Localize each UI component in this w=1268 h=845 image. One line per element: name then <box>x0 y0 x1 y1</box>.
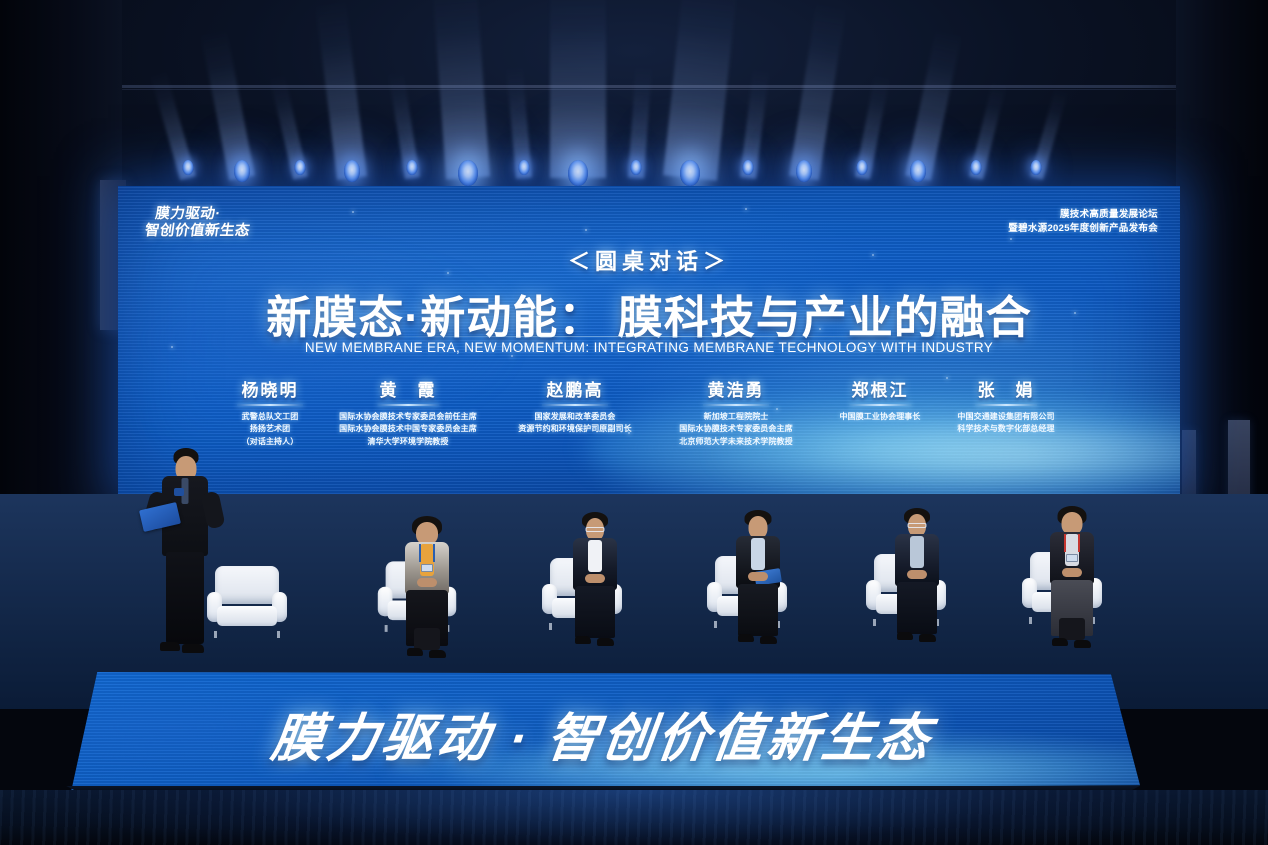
main-led-wall: 膜力驱动· 智创价值新生态 膜技术高质量发展论坛 暨碧水源2025年度创新产品发… <box>118 186 1180 494</box>
panelist-2-hands <box>585 574 605 583</box>
stage-light-fixture <box>183 160 194 175</box>
panelist-4-trousers <box>897 582 937 634</box>
stage-light-fixture <box>743 160 754 175</box>
speaker-name-underline <box>377 404 439 406</box>
speaker-card-5: 郑根江中国膜工业协会理事长 <box>840 376 921 423</box>
host-trousers <box>166 552 204 644</box>
panelist-4-shoe-right <box>919 634 936 642</box>
event-line-1: 膜技术高质量发展论坛 <box>1008 208 1158 222</box>
chair-leg <box>873 619 876 626</box>
light-beam <box>905 29 962 181</box>
speaker-name: 黄浩勇 <box>679 376 792 404</box>
subtitle-english: NEW MEMBRANE ERA, NEW MOMENTUM: INTEGRAT… <box>118 340 1180 355</box>
panelist-4 <box>888 508 946 658</box>
light-beam <box>663 0 737 181</box>
speaker-title-line: 扬扬艺术团 <box>237 423 303 435</box>
speaker-name-underline <box>703 404 769 406</box>
chair-cushion <box>217 606 277 626</box>
panelist-5-shoe-left <box>1052 638 1068 646</box>
speaker-name: 赵鹏高 <box>518 376 631 404</box>
speaker-title-line: 清华大学环境学院教授 <box>339 436 477 448</box>
speaker-name-underline <box>237 404 303 406</box>
panelist-3-shirt <box>751 538 765 570</box>
wall-sparkle <box>352 211 354 213</box>
stage-light-fixture <box>568 160 588 186</box>
panelist-2-glasses <box>586 527 605 532</box>
panelist-3 <box>729 510 787 660</box>
panelist-3-shoe-right <box>760 636 777 644</box>
stage-light-fixture <box>234 160 250 182</box>
host-microphone <box>174 488 184 496</box>
panelist-1-shoe-left <box>407 648 423 656</box>
speaker-title-line: 科学技术与数字化部总经理 <box>957 423 1054 435</box>
panelist-2-shoe-right <box>597 638 614 646</box>
host-moderator <box>150 448 220 663</box>
chair-leg <box>549 623 552 630</box>
speaker-title-line: 武警总队文工团 <box>237 411 303 423</box>
panelist-2 <box>566 512 624 662</box>
stage-light-fixture <box>407 160 418 175</box>
panelist-1-shoe-right <box>429 650 446 658</box>
stage-front-led-banner: 膜力驱动 · 智创价值新生态 <box>65 672 1140 790</box>
stage-light-fixture <box>519 160 530 175</box>
host-shoe-right <box>182 644 204 653</box>
panelist-1-badge <box>421 564 433 572</box>
speaker-title-line: 国际水协膜技术专家委员会主席 <box>679 423 792 435</box>
speaker-name-underline <box>542 404 608 406</box>
panelist-5-hands <box>1062 568 1082 577</box>
speaker-name: 张 娟 <box>957 376 1054 404</box>
speaker-card-2: 黄 霞国际水协会膜技术专家委员会前任主席国际水协会膜技术中国专家委员会主席清华大… <box>339 376 477 448</box>
title-divider <box>329 336 969 337</box>
panelist-4-shirt <box>910 536 924 568</box>
light-beam <box>789 2 846 181</box>
wall-sparkle <box>745 208 747 210</box>
panelist-4-shoe-left <box>897 632 913 640</box>
speaker-title-line: 资源节约和环境保护司原副司长 <box>518 423 631 435</box>
speaker-title-line: 新加坡工程院院士 <box>679 411 792 423</box>
speaker-name: 黄 霞 <box>339 376 477 404</box>
stage-light-fixture <box>458 160 478 186</box>
session-tag: ＜圆桌对话＞ <box>118 244 1180 276</box>
ceiling-truss <box>0 85 1268 88</box>
speaker-title-line: 国家发展和改革委员会 <box>518 411 631 423</box>
wall-logo-line2: 智创价值新生态 <box>144 223 251 240</box>
speaker-card-1: 杨晓明武警总队文工团扬扬艺术团（对话主持人） <box>237 376 303 448</box>
panelist-5 <box>1043 506 1101 656</box>
speaker-title-line: 中国交通建设集团有限公司 <box>957 411 1054 423</box>
wall-sparkle <box>1010 238 1012 240</box>
foreground-floor <box>0 790 1268 845</box>
speaker-titles: 中国膜工业协会理事长 <box>840 411 921 423</box>
banner-slogan: 膜力驱动 · 智创价值新生态 <box>65 696 1140 771</box>
stage-light-fixture <box>295 160 306 175</box>
panelist-5-legs <box>1059 618 1085 640</box>
wall-sparkle <box>511 355 513 357</box>
speaker-titles: 武警总队文工团扬扬艺术团（对话主持人） <box>237 411 303 448</box>
host-shoe-left <box>160 642 180 651</box>
panelist-2-shoe-left <box>575 636 591 644</box>
speaker-name: 杨晓明 <box>237 376 303 404</box>
panelist-2-trousers <box>575 586 615 638</box>
panelist-3-trousers <box>738 584 778 636</box>
speaker-name-underline <box>975 404 1037 406</box>
wall-sparkle <box>585 229 587 231</box>
stage-light-fixture <box>857 160 868 175</box>
wall-logo-line1: 膜力驱动· <box>146 206 253 223</box>
panelist-4-glasses <box>908 523 927 528</box>
panelist-5-badge <box>1066 554 1078 562</box>
panelist-1-legs <box>414 628 440 650</box>
speaker-name: 郑根江 <box>840 376 921 404</box>
panelist-5-shoe-right <box>1074 640 1091 648</box>
speaker-titles: 新加坡工程院院士国际水协膜技术专家委员会主席北京师范大学未来技术学院教授 <box>679 411 792 448</box>
speaker-title-line: 国际水协会膜技术专家委员会前任主席 <box>339 411 477 423</box>
chair-leg <box>277 631 280 638</box>
stage-light-fixture <box>971 160 982 175</box>
stage-light-fixture <box>1031 160 1042 175</box>
panelist-1-hands <box>417 578 437 587</box>
speaker-titles: 国际水协会膜技术专家委员会前任主席国际水协会膜技术中国专家委员会主席清华大学环境… <box>339 411 477 448</box>
panelist-1-lanyard <box>419 544 435 562</box>
chair-leg <box>385 625 388 632</box>
panelist-1 <box>398 516 456 666</box>
wall-event-title: 膜技术高质量发展论坛 暨碧水源2025年度创新产品发布会 <box>1008 208 1158 237</box>
panelist-2-shirt <box>588 540 602 572</box>
speaker-list: 杨晓明武警总队文工团扬扬艺术团（对话主持人）黄 霞国际水协会膜技术专家委员会前任… <box>118 376 1180 481</box>
chair-leg <box>714 621 717 628</box>
speaker-title-line: 北京师范大学未来技术学院教授 <box>679 436 792 448</box>
stage-light-fixture <box>344 160 360 182</box>
speaker-title-line: 中国膜工业协会理事长 <box>840 411 921 423</box>
speaker-title-line: 国际水协会膜技术中国专家委员会主席 <box>339 423 477 435</box>
speaker-name-underline <box>849 404 911 406</box>
event-line-2: 暨碧水源2025年度创新产品发布会 <box>1008 222 1158 236</box>
panelist-4-hands <box>907 570 927 579</box>
speaker-titles: 国家发展和改革委员会资源节约和环境保护司原副司长 <box>518 411 631 436</box>
panelist-5-lanyard <box>1064 534 1080 552</box>
stage-light-fixture <box>631 160 642 175</box>
panelist-3-hands <box>748 572 768 581</box>
speaker-card-4: 黄浩勇新加坡工程院院士国际水协膜技术专家委员会主席北京师范大学未来技术学院教授 <box>679 376 792 448</box>
ceiling-truss-secondary <box>0 89 1268 90</box>
stage-light-fixture <box>680 160 700 186</box>
panelist-3-shoe-left <box>738 634 754 642</box>
chair-leg <box>1029 617 1032 624</box>
light-beam <box>201 28 255 180</box>
wall-corner-logo: 膜力驱动· 智创价值新生态 <box>144 206 254 240</box>
stage-light-fixture <box>796 160 812 182</box>
stage-light-fixture <box>910 160 926 182</box>
speaker-titles: 中国交通建设集团有限公司科学技术与数字化部总经理 <box>957 411 1054 436</box>
speaker-card-6: 张 娟中国交通建设集团有限公司科学技术与数字化部总经理 <box>957 376 1054 436</box>
speaker-title-line: （对话主持人） <box>237 436 303 448</box>
conference-stage-photo: 膜力驱动· 智创价值新生态 膜技术高质量发展论坛 暨碧水源2025年度创新产品发… <box>0 0 1268 845</box>
chair-back <box>215 566 279 604</box>
speaker-card-3: 赵鹏高国家发展和改革委员会资源节约和环境保护司原副司长 <box>518 376 631 436</box>
